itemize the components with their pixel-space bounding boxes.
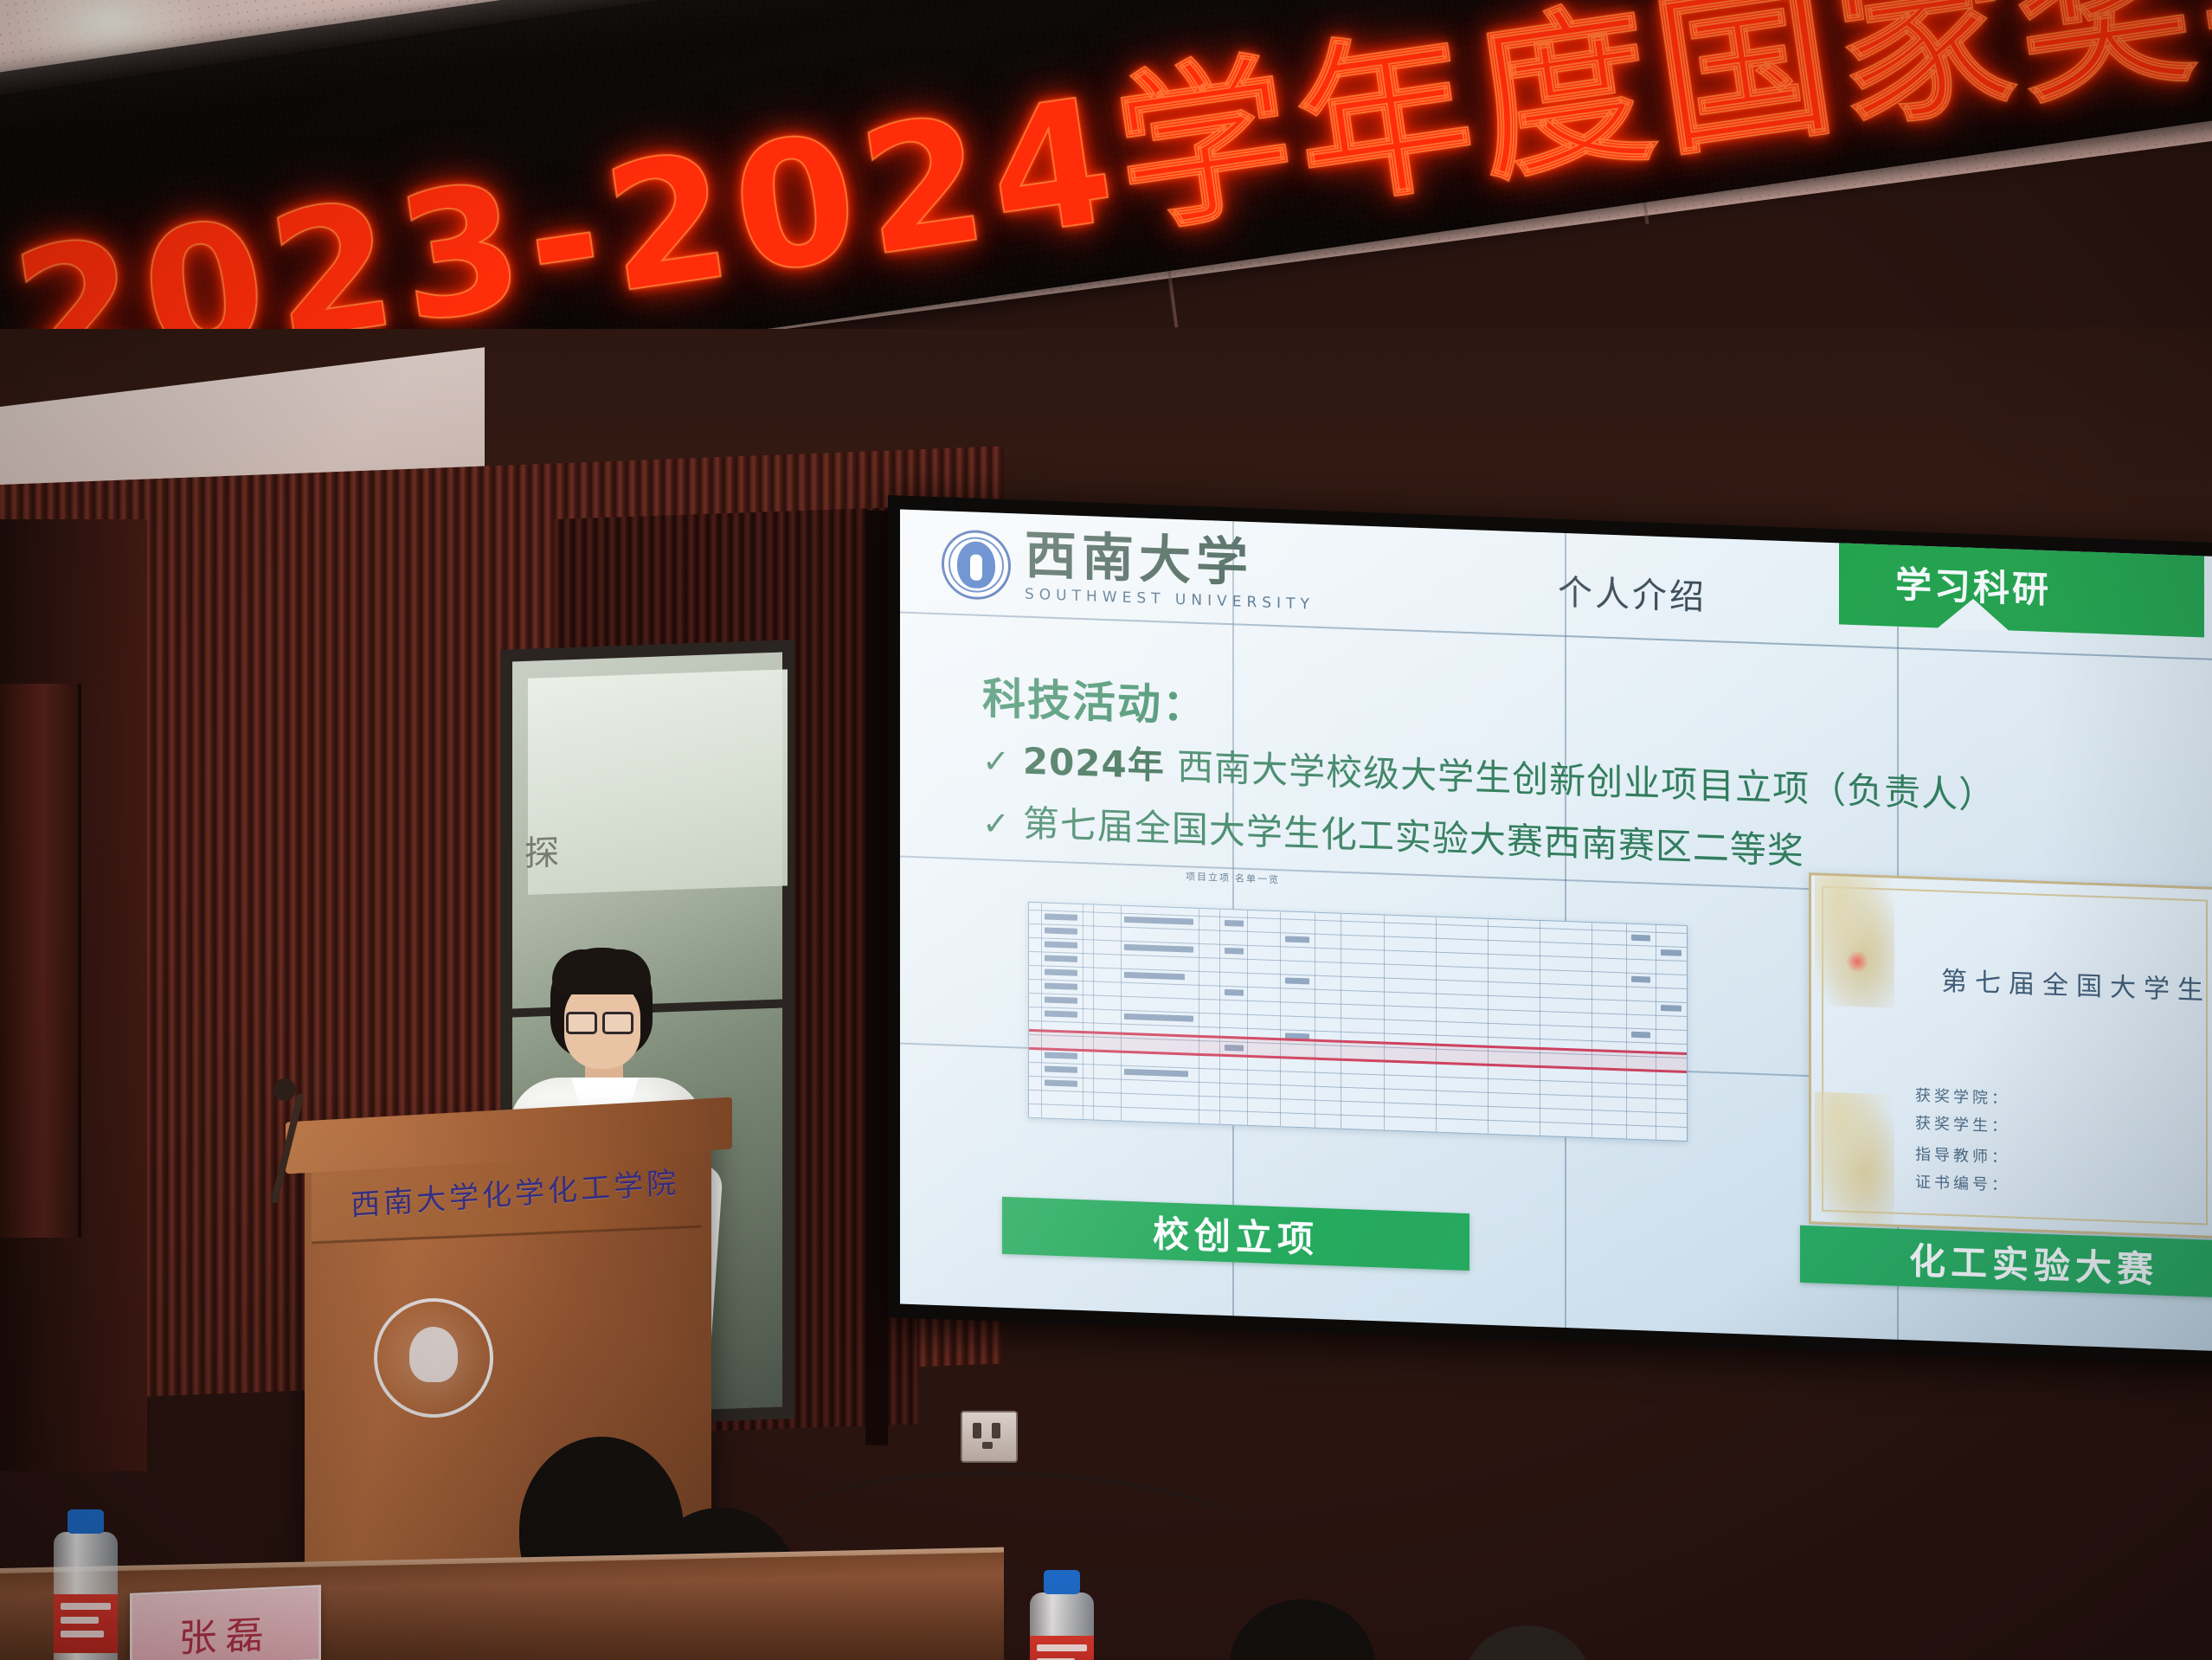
water-bottle [1030, 1592, 1094, 1660]
window-reflection-text: 探 [524, 825, 559, 876]
screen-wall-edge [865, 511, 888, 1446]
certificate-field: 指导教师： [1915, 1142, 2010, 1168]
bottle-label [1030, 1636, 1094, 1660]
caption-label: 校创立项 [1153, 1204, 1319, 1263]
check-icon: ✓ [982, 742, 1011, 781]
tab-personal-intro[interactable]: 个人介绍 [1558, 564, 1707, 620]
bottle-label [54, 1594, 118, 1653]
logo-name-cn: 西南大学 [1025, 530, 1315, 592]
caption-bar-chem-contest: 化工实验大赛 [1800, 1226, 2212, 1299]
water-bottle [54, 1532, 118, 1660]
spreadsheet-caption: 项目立项 名单一览 [1186, 869, 1280, 886]
presentation-screen[interactable]: 西南大学 SOUTHWEST UNIVERSITY 个人介绍 学习科研 科技活动… [900, 510, 2212, 1352]
laser-pointer-dot [1846, 950, 1868, 974]
microphone-head-icon [273, 1078, 296, 1101]
wall-outlet [961, 1411, 1018, 1463]
lecture-hall-screenshot: 2023-2024学年度国家奖学金评选答辩 探 [0, 0, 2212, 1660]
speaker-bangs [552, 949, 651, 994]
judge-namecard: 张磊 [130, 1585, 321, 1660]
audience-head [1229, 1599, 1376, 1660]
slide-section-title: 科技活动： [982, 664, 1207, 734]
glasses-icon [602, 1012, 633, 1034]
check-icon: ✓ [982, 804, 1011, 843]
southwest-university-seal-icon [942, 529, 1011, 601]
certificate-field: 获奖学生： [1915, 1110, 2010, 1136]
podium-emblem-icon [374, 1298, 493, 1418]
bottle-cap [68, 1509, 104, 1534]
certificate-ornament [1815, 875, 1894, 1007]
bullet-year: 2024年 [1023, 740, 1165, 788]
highlighted-row [1029, 1029, 1687, 1073]
glasses-icon [566, 1012, 597, 1034]
seal-ring [948, 536, 1004, 593]
spreadsheet-screenshot [1028, 902, 1688, 1142]
university-logo: 西南大学 SOUTHWEST UNIVERSITY [942, 526, 1315, 613]
certificate-field: 获奖学院： [1915, 1083, 2010, 1109]
tab-pointer-icon [1937, 597, 2009, 631]
certificate-ornament [1815, 1091, 1894, 1224]
certificate-image: 第七届全国大学生化工实验大赛 获奖学院： 获奖学生： 指导教师： 证书编号： [1809, 872, 2212, 1239]
tab-strip-extension [2107, 540, 2204, 637]
window-daylight [528, 669, 788, 894]
audience-head [1463, 1625, 1592, 1660]
side-door [0, 684, 81, 1238]
judge-name: 张磊 [179, 1604, 273, 1660]
certificate-field: 证书编号： [1915, 1169, 2010, 1195]
caption-label: 化工实验大赛 [1909, 1232, 2158, 1293]
bullet-text: 第七届全国大学生化工实验大赛西南赛区二等奖 [1023, 802, 1804, 872]
bottle-cap [1044, 1570, 1080, 1594]
caption-bar-school-project: 校创立项 [1002, 1197, 1469, 1271]
